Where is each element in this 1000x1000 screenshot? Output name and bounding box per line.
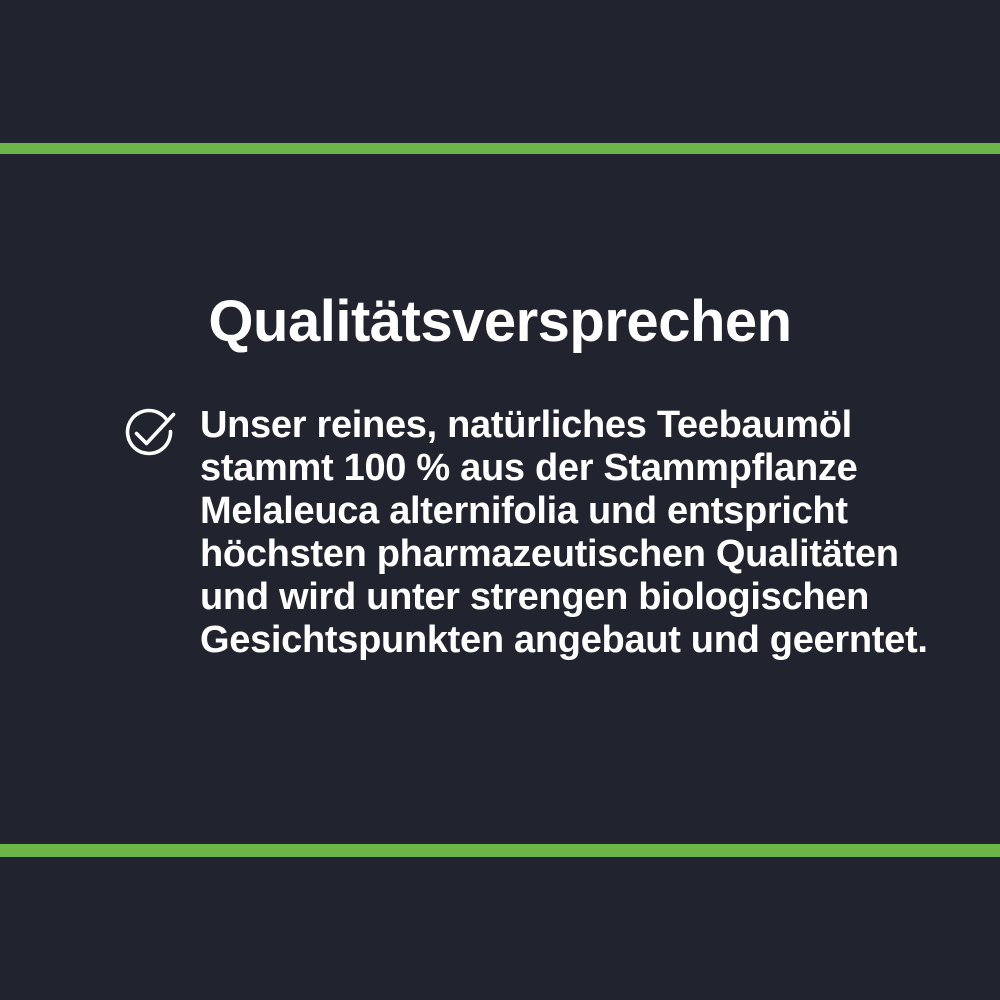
claim-line: und wird unter strengen biologischen [200,576,928,619]
claim-line: höchsten pharmazeutischen Qualitäten [200,533,928,576]
check-circle-icon [120,404,178,462]
claim-text: Unser reines, natürliches Teebaumöl stam… [200,402,928,662]
green-divider-bottom [0,844,1000,857]
page-title: Qualitätsversprechen [0,289,1000,355]
claim-line: Gesichtspunkten angebaut und geerntet. [200,619,928,662]
quality-promise-slide: Qualitätsversprechen Unser reines, natür… [0,0,1000,1000]
claim-line: Melaleuca alternifolia und entspricht [200,490,928,533]
slide-content: Qualitätsversprechen Unser reines, natür… [0,154,1000,844]
claim-line: Unser reines, natürliches Teebaumöl [200,404,928,447]
green-divider-top [0,143,1000,154]
claim-block: Unser reines, natürliches Teebaumöl stam… [120,402,910,662]
claim-line: stammt 100 % aus der Stammpflanze [200,447,928,490]
